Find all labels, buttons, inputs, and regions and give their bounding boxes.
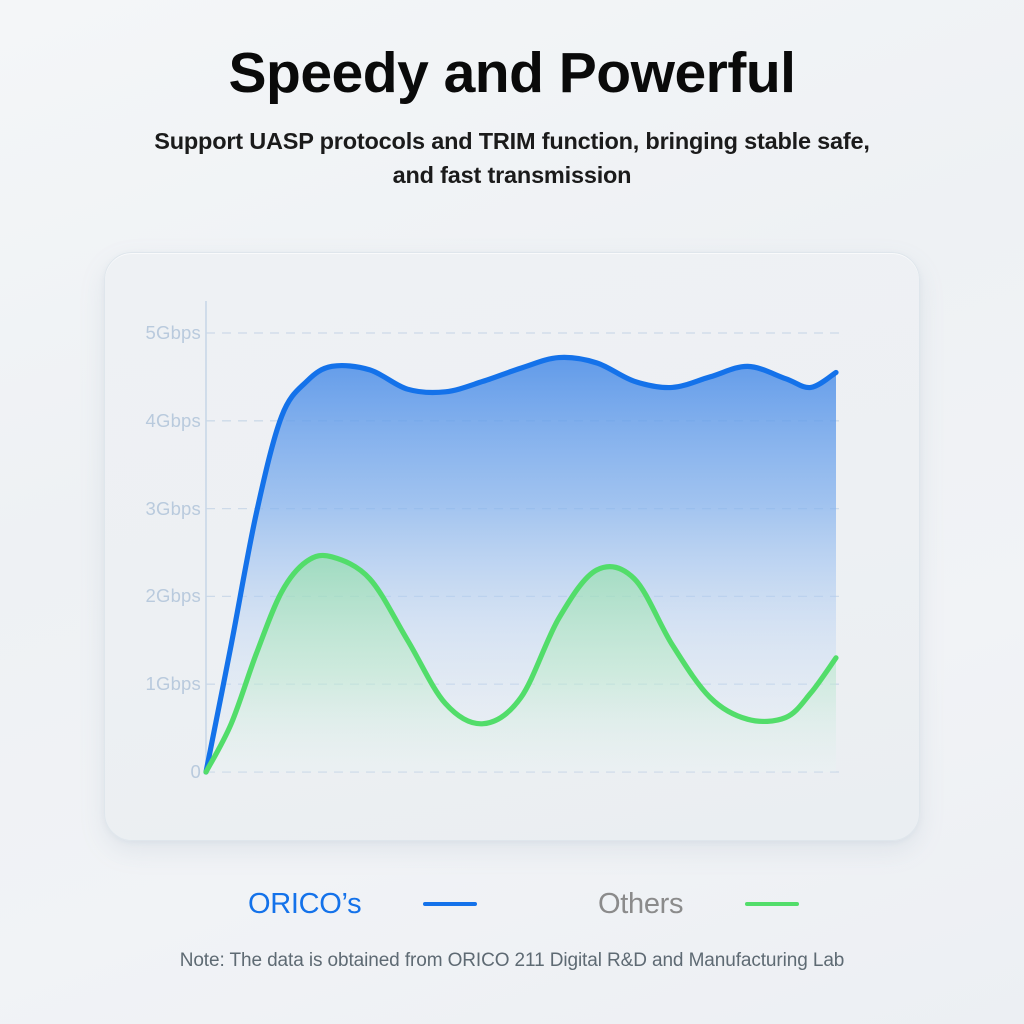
legend-label-orico: ORICO’s xyxy=(248,890,361,919)
legend-swatch-others xyxy=(745,902,799,906)
legend-item-others[interactable]: Others xyxy=(598,882,799,926)
chart-svg xyxy=(105,253,919,840)
header: Speedy and Powerful Support UASP protoco… xyxy=(0,44,1024,192)
chart-legend: ORICO’s Others xyxy=(0,882,1024,926)
page-subtitle: Support UASP protocols and TRIM function… xyxy=(132,124,892,192)
chart-card: 01Gbps2Gbps3Gbps4Gbps5Gbps xyxy=(104,252,920,841)
page-title: Speedy and Powerful xyxy=(0,44,1024,104)
line-chart xyxy=(105,253,919,840)
promo-page: Speedy and Powerful Support UASP protoco… xyxy=(0,0,1024,1024)
chart-footnote: Note: The data is obtained from ORICO 21… xyxy=(0,950,1024,972)
legend-label-others: Others xyxy=(598,890,683,919)
legend-swatch-orico xyxy=(423,902,477,906)
legend-item-orico[interactable]: ORICO’s xyxy=(248,882,477,926)
